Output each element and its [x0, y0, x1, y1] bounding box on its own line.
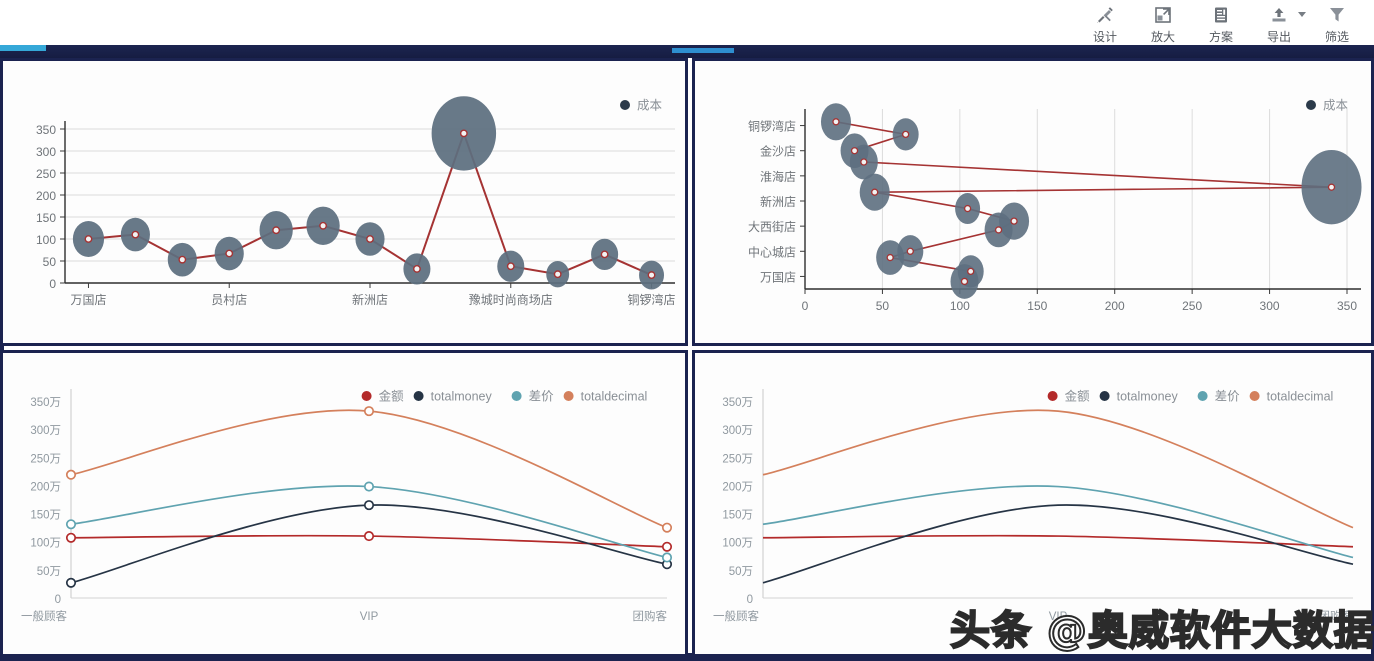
marker-0-0[interactable] [67, 534, 75, 542]
series-line-3[interactable] [763, 410, 1353, 527]
point-marker-1[interactable] [132, 231, 138, 237]
ytick-label-350: 350 [36, 123, 56, 137]
toolbar: 设计 放大 方案 [0, 0, 1374, 45]
point-marker-7[interactable] [1011, 218, 1017, 224]
filter-funnel-icon [1327, 4, 1347, 26]
ytick-label-100: 100 [36, 233, 56, 247]
ytick-label-5: 中心城店 [748, 244, 796, 259]
ytick-label-0: 0 [747, 594, 753, 606]
legend-label-1: totalmoney [431, 390, 493, 404]
legend-label-1: totalmoney [1117, 390, 1179, 404]
ytick-label-300: 300万 [30, 425, 61, 437]
legend-marker-2[interactable] [512, 391, 522, 401]
series-line-1[interactable] [71, 505, 667, 583]
legend-marker-0[interactable] [620, 100, 630, 110]
multi-series-line-chart-smooth[interactable]: 050万100万150万200万250万300万350万一般顾客VIP团购客金额… [695, 353, 1371, 654]
toolbar-button-zoom[interactable]: 放大 [1134, 0, 1192, 45]
ytick-label-4: 大西街店 [748, 220, 796, 234]
band-accent-middle [672, 48, 734, 53]
xtick-label-200: 200 [1105, 299, 1125, 313]
multi-series-line-chart-with-markers[interactable]: 050万100万150万200万250万300万350万一般顾客VIP团购客金额… [3, 353, 685, 654]
ytick-label-250: 250 [36, 167, 56, 181]
chart-panel-bottom-left[interactable]: 050万100万150万200万250万300万350万一般顾客VIP团购客金额… [0, 350, 688, 657]
legend: 成本 [1306, 99, 1349, 113]
marker-2-0[interactable] [67, 520, 75, 528]
series-line-2[interactable] [71, 486, 667, 557]
point-marker-1[interactable] [903, 131, 909, 137]
ytick-label-250: 250万 [722, 453, 753, 465]
point-marker-4[interactable] [273, 227, 279, 233]
legend-marker-0[interactable] [1306, 100, 1316, 110]
point-marker-8[interactable] [461, 130, 467, 136]
ytick-label-0: 铜锣湾店 [748, 119, 796, 134]
toolbar-button-export[interactable]: 导出 [1250, 0, 1308, 45]
ytick-label-1: 金沙店 [760, 144, 796, 159]
xtick-label-0: 万国店 [70, 293, 106, 307]
x-axis-labels: 一般顾客VIP团购客 [713, 609, 1353, 623]
y-axis-labels: 050万100万150万200万250万300万350万 [722, 397, 753, 606]
toolbar-label-zoom: 放大 [1151, 28, 1175, 45]
xtick-label-0: 一般顾客 [21, 609, 67, 623]
point-marker-3[interactable] [861, 159, 867, 165]
point-marker-5[interactable] [320, 223, 326, 229]
xtick-label-2: 团购客 [633, 609, 668, 623]
toolbar-button-scheme[interactable]: 方案 [1192, 0, 1250, 45]
x-gridlines: 050100150200250300350 [802, 109, 1358, 313]
bubble-markers [821, 103, 1362, 299]
xtick-label-4: 铜锣湾店 [628, 292, 676, 307]
toolbar-label-scheme: 方案 [1209, 28, 1233, 45]
xtick-label-0: 一般顾客 [713, 609, 759, 623]
ytick-label-350: 350万 [30, 397, 61, 409]
point-marker-8[interactable] [996, 227, 1002, 233]
xtick-label-2: 新洲店 [352, 292, 388, 307]
point-marker-0[interactable] [85, 236, 91, 242]
xtick-label-1: VIP [1049, 611, 1068, 623]
export-upload-icon [1269, 4, 1289, 26]
marker-3-0[interactable] [67, 471, 75, 479]
xtick-label-250: 250 [1182, 299, 1202, 313]
ytick-label-200: 200 [36, 189, 56, 203]
series-markers-2 [67, 482, 671, 561]
series-line-1[interactable] [763, 505, 1353, 583]
point-marker-3[interactable] [226, 250, 232, 256]
xtick-label-1: VIP [360, 611, 379, 623]
ytick-label-0: 0 [49, 277, 56, 291]
series-line-2[interactable] [763, 486, 1353, 557]
legend-marker-3[interactable] [564, 391, 574, 401]
point-marker-9[interactable] [907, 248, 913, 254]
marker-3-2[interactable] [663, 523, 671, 531]
xtick-label-3: 豫城时尚商场店 [469, 292, 553, 307]
point-marker-5[interactable] [872, 189, 878, 195]
xtick-label-0: 0 [802, 299, 809, 313]
point-marker-11[interactable] [968, 268, 974, 274]
legend-marker-1[interactable] [414, 391, 424, 401]
ytick-label-250: 250万 [30, 453, 61, 465]
ytick-label-150: 150 [36, 211, 56, 225]
toolbar-label-filter: 筛选 [1325, 28, 1349, 45]
bubble-line-chart-vertical[interactable]: 050100150200250300350万国店员村店新洲店豫城时尚商场店铜锣湾… [3, 61, 685, 343]
ytick-label-300: 300万 [722, 425, 753, 437]
toolbar-label-design: 设计 [1093, 28, 1117, 45]
point-marker-6[interactable] [965, 206, 971, 212]
xtick-label-50: 50 [876, 299, 890, 313]
ytick-label-3: 新洲店 [760, 194, 796, 209]
legend-marker-2[interactable] [1198, 391, 1208, 401]
scheme-document-icon [1211, 4, 1231, 26]
point-marker-2[interactable] [852, 148, 858, 154]
ytick-label-300: 300 [36, 145, 56, 159]
legend-label-2: 差价 [529, 390, 555, 404]
export-dropdown-caret-icon[interactable] [1298, 12, 1306, 17]
point-marker-10[interactable] [887, 255, 893, 261]
marker-2-2[interactable] [663, 553, 671, 561]
ytick-label-200: 200万 [30, 481, 61, 493]
point-marker-7[interactable] [414, 266, 420, 272]
ytick-label-2: 淮海店 [760, 169, 796, 184]
ytick-label-100: 100万 [722, 538, 753, 550]
marker-1-1[interactable] [365, 501, 373, 509]
xtick-label-350: 350 [1337, 299, 1357, 313]
toolbar-label-export: 导出 [1267, 28, 1291, 45]
point-marker-11[interactable] [601, 251, 607, 257]
ytick-label-0: 0 [55, 594, 61, 606]
ytick-label-150: 150万 [30, 510, 61, 522]
toolbar-button-design[interactable]: 设计 [1076, 0, 1134, 45]
xtick-label-150: 150 [1027, 299, 1047, 313]
ytick-label-150: 150万 [722, 510, 753, 522]
y-axis-labels: 铜锣湾店金沙店淮海店新洲店大西街店中心城店万国店 [748, 119, 805, 285]
ytick-label-50: 50万 [37, 566, 61, 578]
marker-1-0[interactable] [67, 579, 75, 587]
legend-label-2: 差价 [1215, 390, 1241, 404]
ytick-label-350: 350万 [722, 397, 753, 409]
zoom-expand-icon [1153, 4, 1173, 26]
x-axis-labels: 一般顾客VIP团购客 [21, 609, 667, 623]
point-marker-9[interactable] [508, 263, 514, 269]
xtick-label-2: 团购客 [1319, 609, 1354, 623]
legend-marker-1[interactable] [1100, 391, 1110, 401]
ytick-label-6: 万国店 [760, 270, 796, 284]
chart-panel-top-left[interactable]: 050100150200250300350万国店员村店新洲店豫城时尚商场店铜锣湾… [0, 58, 688, 346]
band-accent-left [0, 45, 46, 51]
legend: 金额totalmoney差价totaldecimal [362, 389, 648, 404]
toolbar-button-filter[interactable]: 筛选 [1308, 0, 1366, 45]
ytick-label-200: 200万 [722, 481, 753, 493]
legend: 成本 [620, 99, 663, 113]
chart-panel-bottom-right[interactable]: 050万100万150万200万250万300万350万一般顾客VIP团购客金额… [692, 350, 1374, 657]
legend-label-0: 金额 [1065, 389, 1091, 404]
legend: 金额totalmoney差价totaldecimal [1048, 389, 1334, 404]
top-navy-band [0, 45, 1374, 58]
legend-marker-0[interactable] [1048, 391, 1058, 401]
legend-label-3: totaldecimal [1267, 390, 1334, 404]
legend-label-0: 成本 [637, 99, 663, 113]
design-pencil-icon [1095, 4, 1115, 26]
y-axis-labels: 050万100万150万200万250万300万350万 [30, 397, 61, 606]
legend-label-0: 金额 [379, 389, 405, 404]
series-markers-3 [67, 407, 671, 532]
marker-0-2[interactable] [663, 543, 671, 551]
ytick-label-100: 100万 [30, 538, 61, 550]
point-marker-10[interactable] [554, 271, 560, 277]
legend-label-3: totaldecimal [581, 390, 648, 404]
legend-label-0: 成本 [1323, 99, 1349, 113]
ytick-label-50: 50 [43, 255, 57, 269]
point-marker-6[interactable] [367, 236, 373, 242]
point-marker-2[interactable] [179, 256, 185, 262]
xtick-label-1: 员村店 [211, 293, 247, 307]
xtick-label-100: 100 [950, 299, 970, 313]
bubble-markers [73, 96, 664, 289]
ytick-label-50: 50万 [729, 566, 753, 578]
bubble-line-chart-horizontal[interactable]: 050100150200250300350铜锣湾店金沙店淮海店新洲店大西街店中心… [695, 61, 1371, 343]
point-marker-0[interactable] [833, 119, 839, 125]
point-marker-4[interactable] [1329, 184, 1335, 190]
chart-panel-top-right[interactable]: 050100150200250300350铜锣湾店金沙店淮海店新洲店大西街店中心… [692, 58, 1374, 346]
marker-0-1[interactable] [365, 532, 373, 540]
point-marker-12[interactable] [962, 278, 968, 284]
xtick-label-300: 300 [1260, 299, 1280, 313]
marker-3-1[interactable] [365, 407, 373, 415]
x-axis-labels: 万国店员村店新洲店豫城时尚商场店铜锣湾店 [70, 283, 675, 307]
point-marker-12[interactable] [648, 272, 654, 278]
legend-marker-0[interactable] [362, 391, 372, 401]
legend-marker-3[interactable] [1250, 391, 1260, 401]
marker-2-1[interactable] [365, 482, 373, 490]
